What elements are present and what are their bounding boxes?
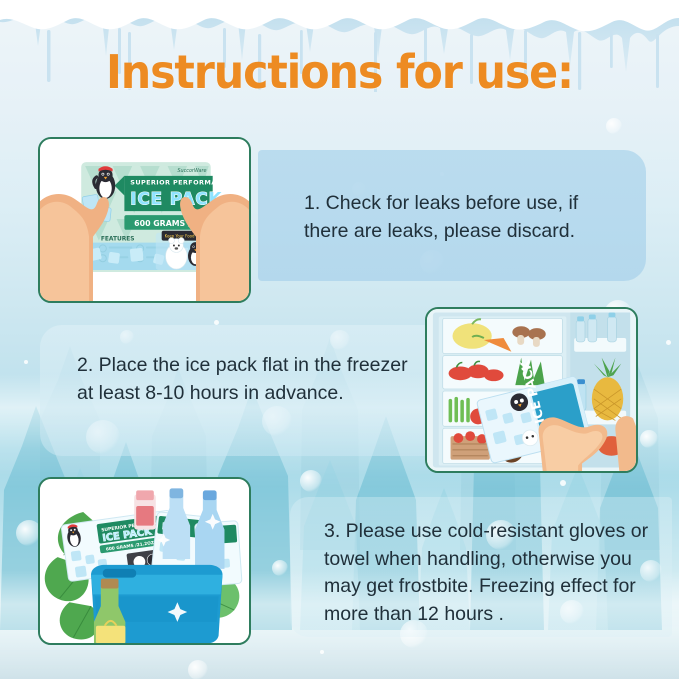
instructions-poster: Instructions for use: SuccorWare SUPERIO… bbox=[0, 0, 679, 679]
step-3-text-panel: 3. Please use cold-resistant gloves or t… bbox=[290, 497, 672, 637]
step-1-text-panel: 1. Check for leaks before use, if there … bbox=[258, 150, 646, 281]
svg-text:SUPERIOR PERFORMANCE: SUPERIOR PERFORMANCE bbox=[130, 179, 232, 187]
page-title: Instructions for use: bbox=[24, 49, 655, 95]
step-2-image-card: ICE PACK bbox=[425, 307, 638, 473]
refrigerator-with-ice-pack-illustration: ICE PACK bbox=[427, 309, 636, 471]
step-2-text-panel: 2. Place the ice pack flat in the freeze… bbox=[40, 325, 428, 456]
step-1-text: 1. Check for leaks before use, if there … bbox=[304, 190, 620, 245]
step-2-text: 2. Place the ice pack flat in the freeze… bbox=[77, 352, 408, 407]
cooler-bag-with-ice-packs-illustration: SUPERIOR PERFORMANCE ICE PACK 600 GRAMS … bbox=[40, 479, 249, 643]
step-3-text: 3. Please use cold-resistant gloves or t… bbox=[324, 518, 658, 629]
hands-holding-ice-pack-illustration: SuccorWare SUPERIOR PERFORMANCE ICE PACK… bbox=[40, 139, 249, 301]
svg-text:SuccorWare: SuccorWare bbox=[177, 168, 206, 174]
step-1-image-card: SuccorWare SUPERIOR PERFORMANCE ICE PACK… bbox=[38, 137, 251, 303]
step-3-image-card: SUPERIOR PERFORMANCE ICE PACK 600 GRAMS … bbox=[38, 477, 251, 645]
svg-text:FEATURES: FEATURES bbox=[101, 237, 135, 243]
